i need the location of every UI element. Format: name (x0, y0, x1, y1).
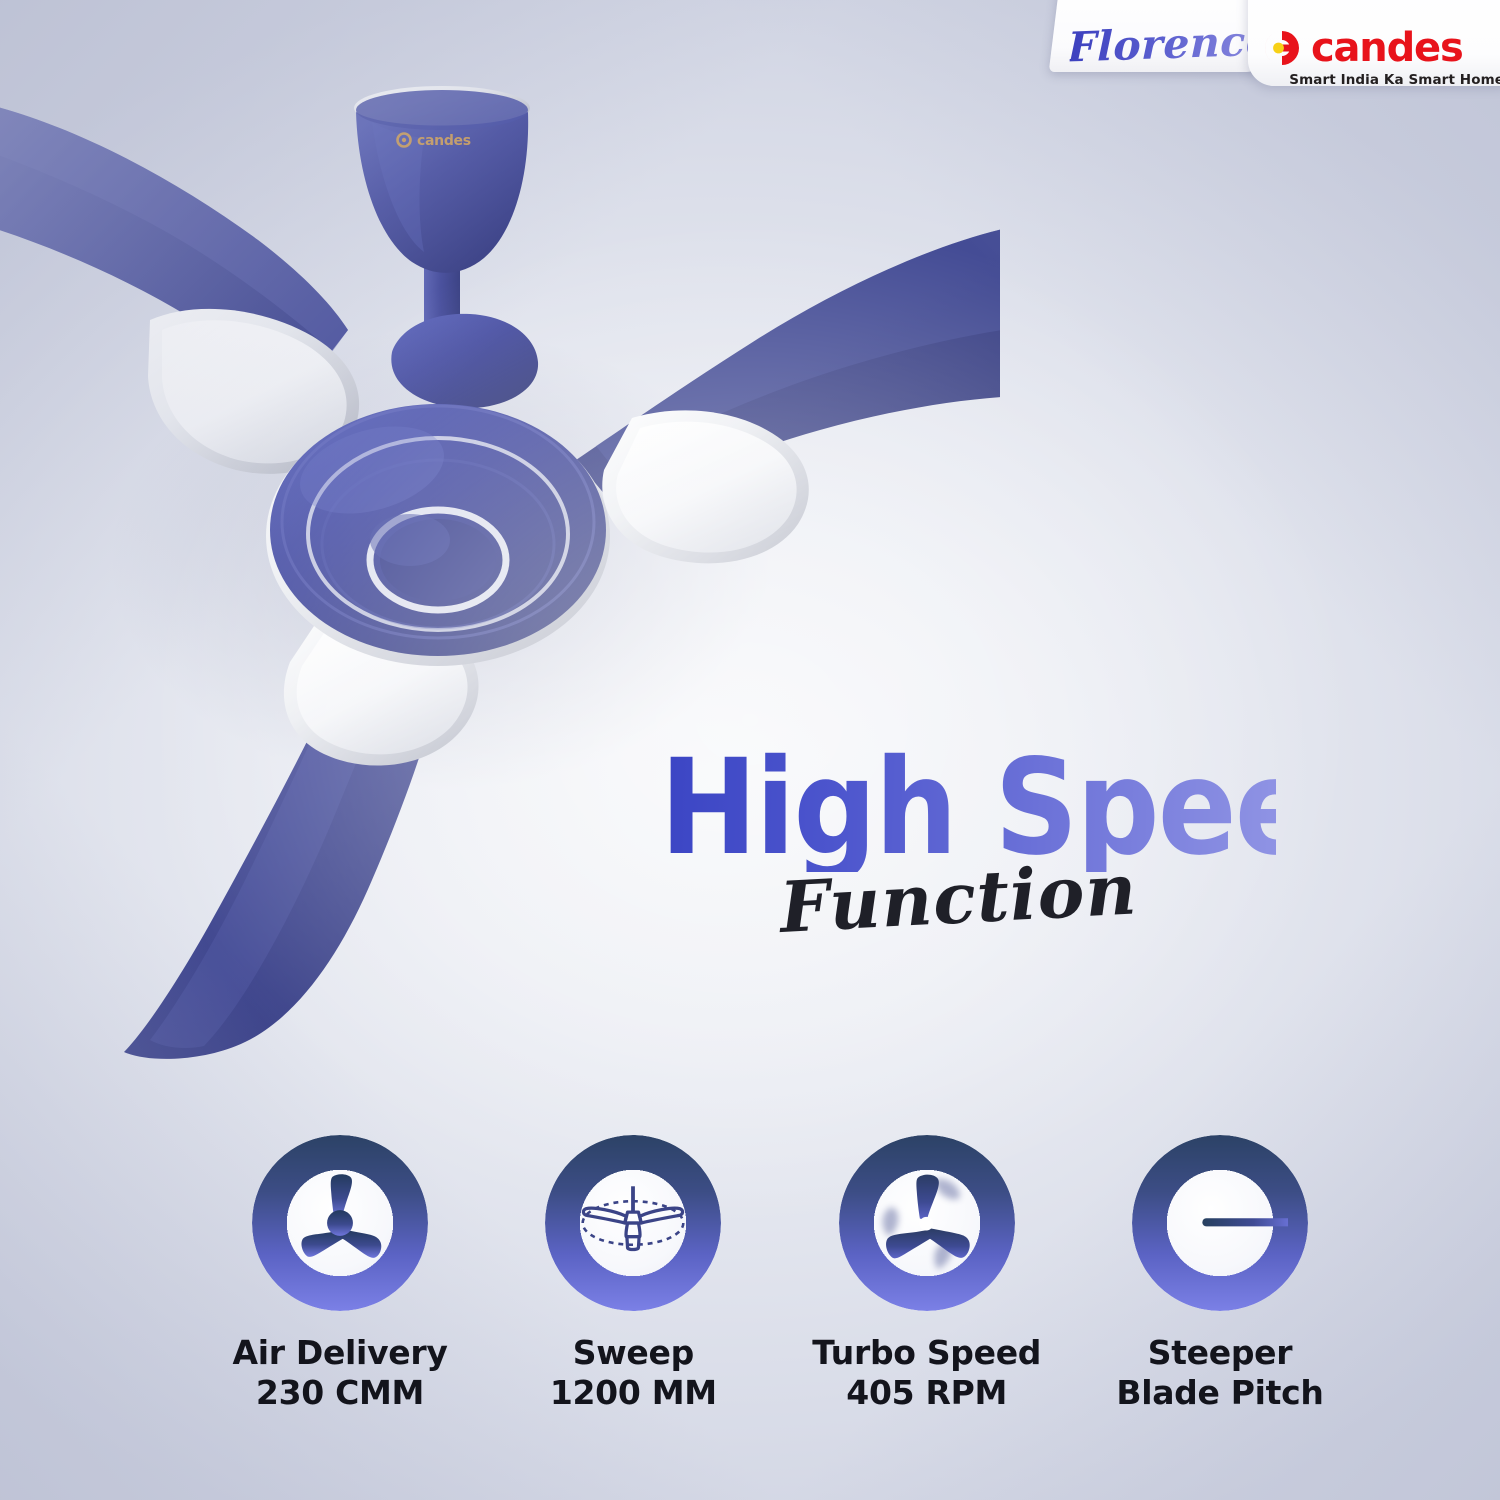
feature-circle (1132, 1135, 1308, 1311)
feature-turbo-speed: Turbo Speed 405 RPM (802, 1135, 1052, 1414)
feature-circle (839, 1135, 1015, 1311)
feature-label: Air Delivery 230 CMM (232, 1333, 447, 1414)
ceiling-fan-sweep-icon (565, 1155, 701, 1291)
feature-blade-pitch: Steeper Blade Pitch (1095, 1135, 1345, 1414)
candes-c-mark-icon (1262, 28, 1302, 68)
feature-sweep: Sweep 1200 MM (508, 1135, 758, 1414)
fan-blades-icon (272, 1155, 408, 1291)
series-name: Florence (1069, 9, 1270, 80)
svg-text:candes: candes (417, 133, 471, 149)
candes-logo: candes Smart India Ka Smart Home (1262, 26, 1500, 96)
feature-list: Air Delivery 230 CMM (215, 1135, 1345, 1414)
candes-wordmark: candes (1311, 28, 1463, 68)
feature-label: Steeper Blade Pitch (1116, 1333, 1323, 1414)
blade-pitch-icon (1152, 1155, 1288, 1291)
candes-tagline: Smart India Ka Smart Home (1262, 72, 1500, 88)
hero-headline-block: High Speed Function (660, 745, 1360, 949)
feature-circle (545, 1135, 721, 1311)
product-advertisement-banner: candes Florence (0, 0, 1500, 1500)
feature-circle (252, 1135, 428, 1311)
feature-label: Turbo Speed 405 RPM (812, 1333, 1041, 1414)
feature-air-delivery: Air Delivery 230 CMM (215, 1135, 465, 1414)
header-branding: Florence candes Smart India Ka Smart Hom… (1040, 0, 1500, 100)
spinning-fan-icon (859, 1155, 995, 1291)
feature-label: Sweep 1200 MM (550, 1333, 717, 1414)
ceiling-fan-product-image: candes (0, 0, 1000, 1120)
